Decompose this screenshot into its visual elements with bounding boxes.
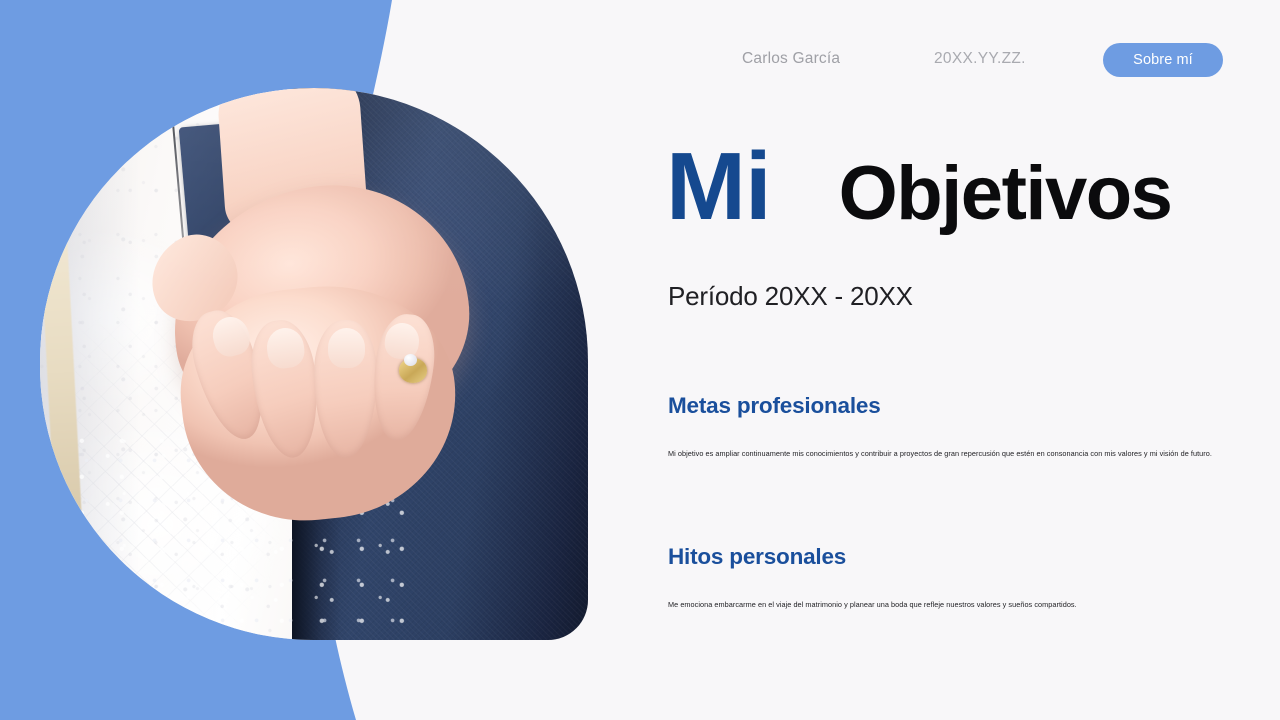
page-title-prefix: Mi bbox=[666, 139, 771, 235]
page-title: Mi Objetivos bbox=[666, 139, 1171, 235]
section-heading: Hitos personales bbox=[668, 543, 1213, 570]
section-hitos-personales: Hitos personales Me emociona embarcarme … bbox=[668, 543, 1213, 611]
period-subtitle: Período 20XX - 20XX bbox=[668, 281, 913, 312]
page-title-main: Objetivos bbox=[839, 156, 1172, 232]
section-heading: Metas profesionales bbox=[668, 392, 1213, 419]
author-name: Carlos García bbox=[742, 50, 840, 68]
about-me-button[interactable]: Sobre mí bbox=[1103, 43, 1223, 77]
wedding-couple-holding-hands-photo bbox=[40, 88, 588, 640]
section-metas-profesionales: Metas profesionales Mi objetivo es ampli… bbox=[668, 392, 1213, 460]
section-body: Me emociona embarcarme en el viaje del m… bbox=[668, 600, 1213, 611]
page-header: Carlos García 20XX.YY.ZZ. Sobre mí bbox=[660, 0, 1280, 120]
date-label: 20XX.YY.ZZ. bbox=[934, 50, 1026, 68]
photo-overlay bbox=[40, 88, 588, 640]
hero-photo-frame bbox=[40, 88, 588, 640]
hero-photo bbox=[40, 88, 588, 640]
section-body: Mi objetivo es ampliar continuamente mis… bbox=[668, 449, 1213, 460]
